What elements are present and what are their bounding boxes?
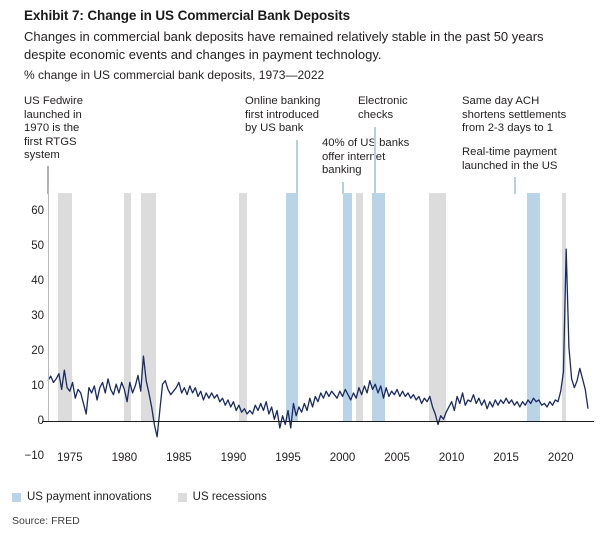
y-axis-ticks: −100102030405060: [4, 0, 44, 533]
chart-plot: −100102030405060 19751980198519901995200…: [0, 0, 600, 533]
y-tick-label: −10: [10, 450, 44, 462]
x-tick-label: 2020: [548, 452, 574, 464]
y-axis-line: [48, 186, 49, 421]
x-tick-label: 2005: [384, 452, 410, 464]
legend-swatch-recession-icon: [178, 493, 187, 502]
y-tick-label: 0: [10, 415, 44, 427]
x-tick-label: 1995: [275, 452, 301, 464]
y-tick-label: 50: [10, 240, 44, 252]
y-tick-label: 40: [10, 275, 44, 287]
y-tick-label: 60: [10, 205, 44, 217]
x-tick-label: 1985: [166, 452, 192, 464]
legend-swatch-innovation-icon: [12, 493, 21, 502]
x-tick-label: 1990: [221, 452, 247, 464]
legend-item-innovations: US payment innovations: [12, 491, 152, 503]
y-tick-label: 30: [10, 310, 44, 322]
x-tick-label: 2015: [493, 452, 519, 464]
exhibit-chart-panel: Exhibit 7: Change in US Commercial Bank …: [0, 0, 600, 533]
x-tick-label: 2000: [330, 452, 356, 464]
x-tick-label: 1975: [57, 452, 83, 464]
x-tick-label: 2010: [439, 452, 465, 464]
chart-legend: US payment innovations US recessions: [12, 491, 267, 503]
plot-area: [48, 193, 588, 421]
legend-label-recessions: US recessions: [193, 491, 267, 503]
series-path: [48, 249, 588, 437]
legend-item-recessions: US recessions: [178, 491, 267, 503]
source-note: Source: FRED: [12, 515, 80, 527]
deposit-change-line: [48, 193, 588, 421]
legend-label-innovations: US payment innovations: [27, 491, 152, 503]
y-tick-label: 20: [10, 345, 44, 357]
x-tick-label: 1980: [112, 452, 138, 464]
y-tick-label: 10: [10, 380, 44, 392]
x-axis-line: [42, 421, 594, 422]
